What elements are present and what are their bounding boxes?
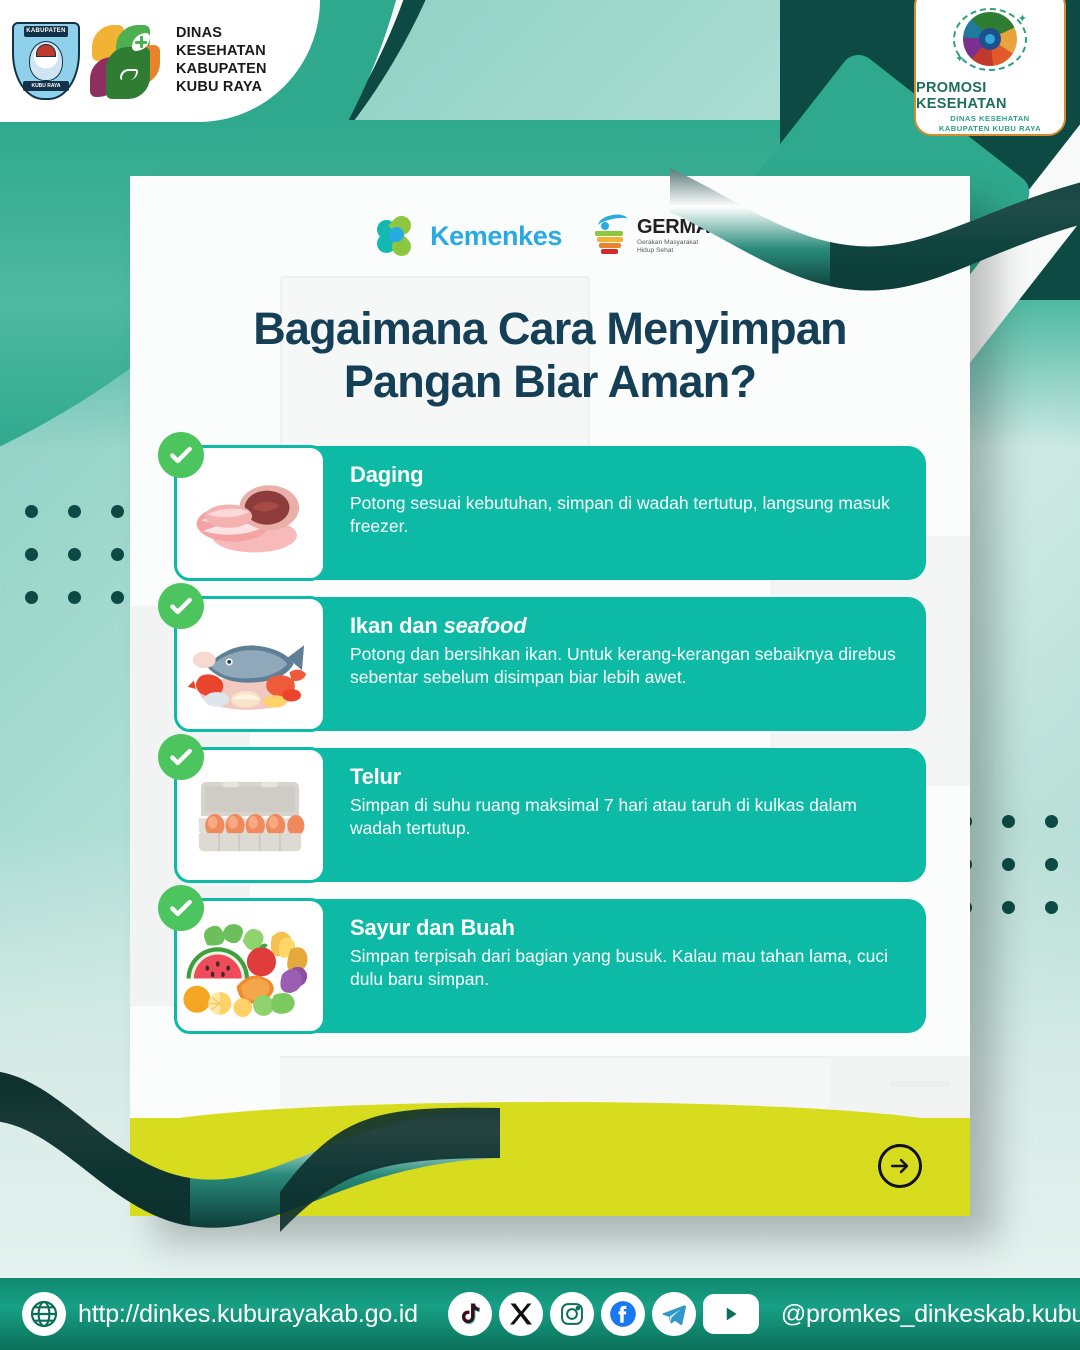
promkes-subtitle-line1: DINAS KESEHATAN xyxy=(950,114,1029,123)
facebook-icon[interactable] xyxy=(601,1292,645,1336)
tip-card: Daging Potong sesuai kebutuhan, simpan d… xyxy=(174,446,926,580)
tip-title-italic: seafood xyxy=(444,613,527,638)
kemenkes-label: Kemenkes xyxy=(430,221,562,252)
tiktok-icon[interactable] xyxy=(448,1292,492,1336)
tip-body: Simpan di suhu ruang maksimal 7 hari ata… xyxy=(350,794,904,841)
tip-title-plain: Daging xyxy=(350,462,423,487)
promkes-subtitle: DINAS KESEHATAN KABUPATEN KUBU RAYA xyxy=(939,114,1041,135)
check-badge-icon xyxy=(158,885,204,931)
tip-title: Sayur dan Buah xyxy=(350,915,904,941)
globe-icon xyxy=(22,1292,66,1336)
tip-card: Ikan dan seafood Potong dan bersihkan ik… xyxy=(174,597,926,731)
check-badge-icon xyxy=(158,583,204,629)
promosi-kesehatan-badge: ✦✦ PROMOSI KESEHATAN DINAS KESEHATAN KAB… xyxy=(914,0,1066,136)
check-badge-icon xyxy=(158,432,204,478)
germas-tagline-line1: Gerakan Masyarakat xyxy=(637,239,698,246)
org-line-4: KUBU RAYA xyxy=(176,79,267,97)
kemenkes-logo: Kemenkes xyxy=(377,216,562,256)
title-line-1: Bagaimana Cara Menyimpan xyxy=(253,303,847,354)
check-badge-icon xyxy=(158,734,204,780)
poster-card: Kemenkes GERMAS Gerakan Masyarakat Hidup… xyxy=(130,176,970,1216)
telegram-icon[interactable] xyxy=(652,1292,696,1336)
tip-title-plain: Ikan dan xyxy=(350,613,444,638)
social-handle[interactable]: @promkes_dinkeskab.kuburaya xyxy=(781,1300,1080,1329)
germas-label: GERMAS xyxy=(637,217,723,237)
promkes-logo-icon: ✦✦ xyxy=(953,8,1027,71)
footer-bar: http://dinkes.kuburayakab.go.id xyxy=(0,1278,1080,1350)
org-line-1: DINAS xyxy=(176,25,267,43)
tip-card: Telur Simpan di suhu ruang maksimal 7 ha… xyxy=(174,748,926,882)
tip-body: Potong dan bersihkan ikan. Untuk kerang-… xyxy=(350,643,904,690)
tips-list: Daging Potong sesuai kebutuhan, simpan d… xyxy=(174,446,926,1033)
decorative-dot-grid-left xyxy=(25,505,124,604)
instagram-icon[interactable] xyxy=(550,1292,594,1336)
tip-title: Daging xyxy=(350,462,904,488)
kubu-raya-crest-icon: KABUPATEN KUBU RAYA xyxy=(12,22,80,100)
next-arrow-button[interactable] xyxy=(878,1144,922,1188)
poster-logo-row: Kemenkes GERMAS Gerakan Masyarakat Hidup… xyxy=(174,206,926,266)
website-url[interactable]: http://dinkes.kuburayakab.go.id xyxy=(78,1300,418,1329)
crest-top-band: KABUPATEN xyxy=(24,26,68,37)
tip-body: Simpan terpisah dari bagian yang busuk. … xyxy=(350,945,904,992)
germas-logo: GERMAS Gerakan Masyarakat Hidup Sehat xyxy=(592,215,723,257)
germas-mark-icon xyxy=(592,215,630,257)
social-links xyxy=(448,1292,759,1336)
tip-title: Ikan dan seafood xyxy=(350,613,904,639)
germas-tagline-line2: Hidup Sehat xyxy=(637,247,673,254)
x-icon[interactable] xyxy=(499,1292,543,1336)
promkes-title: PROMOSI KESEHATAN xyxy=(916,80,1064,112)
kemenkes-mark-icon xyxy=(377,216,419,256)
poster-yellow-strip xyxy=(130,1118,970,1216)
tip-body: Potong sesuai kebutuhan, simpan di wadah… xyxy=(350,492,904,539)
tip-card: Sayur dan Buah Simpan terpisah dari bagi… xyxy=(174,899,926,1033)
tip-title: Telur xyxy=(350,764,904,790)
org-line-2: KESEHATAN xyxy=(176,43,267,61)
dinkes-logo-icon xyxy=(90,21,166,101)
tip-title-plain: Sayur dan Buah xyxy=(350,915,515,940)
crest-bottom-band: KUBU RAYA xyxy=(23,81,69,91)
youtube-icon[interactable] xyxy=(703,1294,759,1334)
arrow-right-icon xyxy=(888,1154,912,1178)
title-line-2: Pangan Biar Aman? xyxy=(344,356,756,407)
org-line-3: KABUPATEN xyxy=(176,61,267,79)
promkes-subtitle-line2: KABUPATEN KUBU RAYA xyxy=(939,124,1041,133)
germas-tagline: Gerakan Masyarakat Hidup Sehat xyxy=(637,239,723,255)
organization-name: DINAS KESEHATAN KABUPATEN KUBU RAYA xyxy=(176,25,267,97)
decorative-dot-grid-right xyxy=(959,815,1058,914)
tip-title-plain: Telur xyxy=(350,764,401,789)
poster-title: Bagaimana Cara Menyimpan Pangan Biar Ama… xyxy=(174,302,926,408)
